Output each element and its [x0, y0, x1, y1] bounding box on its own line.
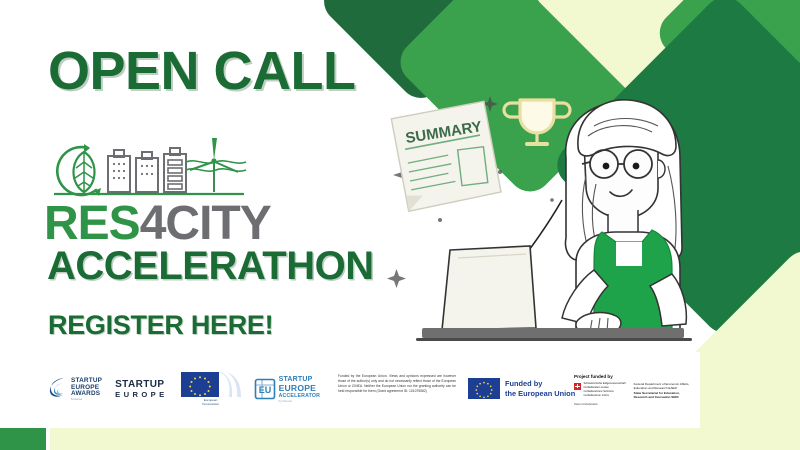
swiss-names: Schweizerische Eidgenossenschaft Confédé…: [584, 382, 626, 398]
project-funded-by: Project funded by Schweizerische Eidgeno…: [574, 374, 689, 406]
woman-figure: [562, 100, 686, 332]
illustration-woman-at-laptop: SUMMARY: [380, 80, 740, 370]
swiss-name-rm: Confederaziun svizra: [584, 394, 626, 398]
swiss-confederation-logo: Schweizerische Eidgenossenschaft Confédé…: [574, 382, 626, 398]
bottom-left-green-block: [0, 428, 46, 450]
sea-sub: finnova: [71, 398, 102, 401]
seri-line4: Research and Innovation SERI: [634, 395, 690, 399]
ec-flag-icon: [181, 372, 241, 398]
eu-flag-icon: [468, 378, 500, 399]
page-title: OPEN CALL: [48, 44, 356, 98]
bottom-pale-bar: [50, 428, 800, 450]
swiss-flag-icon: [574, 383, 581, 390]
brand-res: RES: [44, 197, 140, 250]
funded-line1: Funded by: [505, 379, 575, 389]
sacc-line3: ACCELERATOR: [279, 393, 321, 399]
funded-line2: the European Union: [505, 389, 575, 399]
funded-by-eu-logo: Funded by the European Union: [468, 378, 575, 399]
event-title: ACCELERATHON: [47, 246, 374, 286]
project-funded-row: Schweizerische Eidgenossenschaft Confédé…: [574, 382, 689, 400]
sea-wordmark: STARTUP EUROPE AWARDS finnova: [71, 378, 102, 401]
brand-4: 4: [140, 197, 166, 250]
eu-funding-disclaimer: Funded by the European Union. Views and …: [338, 374, 456, 394]
accelerator-cube-icon: EU: [254, 377, 276, 401]
swiss-confederation-footnote: Swiss Confederation: [574, 403, 689, 406]
sacc-wordmark: STARTUP EUROPE ACCELERATOR by finnova: [279, 376, 321, 403]
se-line1: STARTUP: [115, 379, 167, 390]
logo-startup-europe: STARTUP EUROPE: [115, 379, 167, 399]
logo-european-commission: European Commission: [181, 372, 241, 407]
sacc-sub: by finnova: [279, 399, 321, 403]
cta-register-here[interactable]: REGISTER HERE!: [48, 312, 273, 339]
funded-by-eu-text: Funded by the European Union: [505, 379, 575, 398]
svg-text:EU: EU: [258, 385, 271, 395]
swirl-icon: [48, 376, 68, 402]
res4city-wordmark: RES4CITY: [44, 200, 271, 248]
laptop-base: [422, 328, 684, 338]
ec-caption: European Commission: [202, 399, 219, 407]
open-call-poster: SUMMARY: [0, 0, 800, 450]
sacc-line1: STARTUP: [279, 376, 321, 383]
partner-logos: STARTUP EUROPE AWARDS finnova STARTUP EU…: [48, 372, 320, 407]
trophy-icon: [504, 100, 570, 144]
ec-caption2: Commission: [202, 402, 219, 406]
res4city-icon: [44, 136, 249, 198]
seri-department-name: Federal Department of Economic Affairs, …: [634, 382, 690, 400]
se-line2: EUROPE: [115, 390, 167, 399]
project-funded-title: Project funded by: [574, 374, 689, 379]
summary-document: SUMMARY: [391, 101, 502, 212]
sacc-line2: EUROPE: [279, 383, 321, 393]
logo-startup-europe-accelerator: EU STARTUP EUROPE ACCELERATOR by finnova: [254, 376, 321, 403]
brand-city: CITY: [165, 197, 270, 250]
res4city-logo: RES4CITY: [44, 136, 271, 248]
logo-startup-europe-awards: STARTUP EUROPE AWARDS finnova: [48, 376, 102, 402]
